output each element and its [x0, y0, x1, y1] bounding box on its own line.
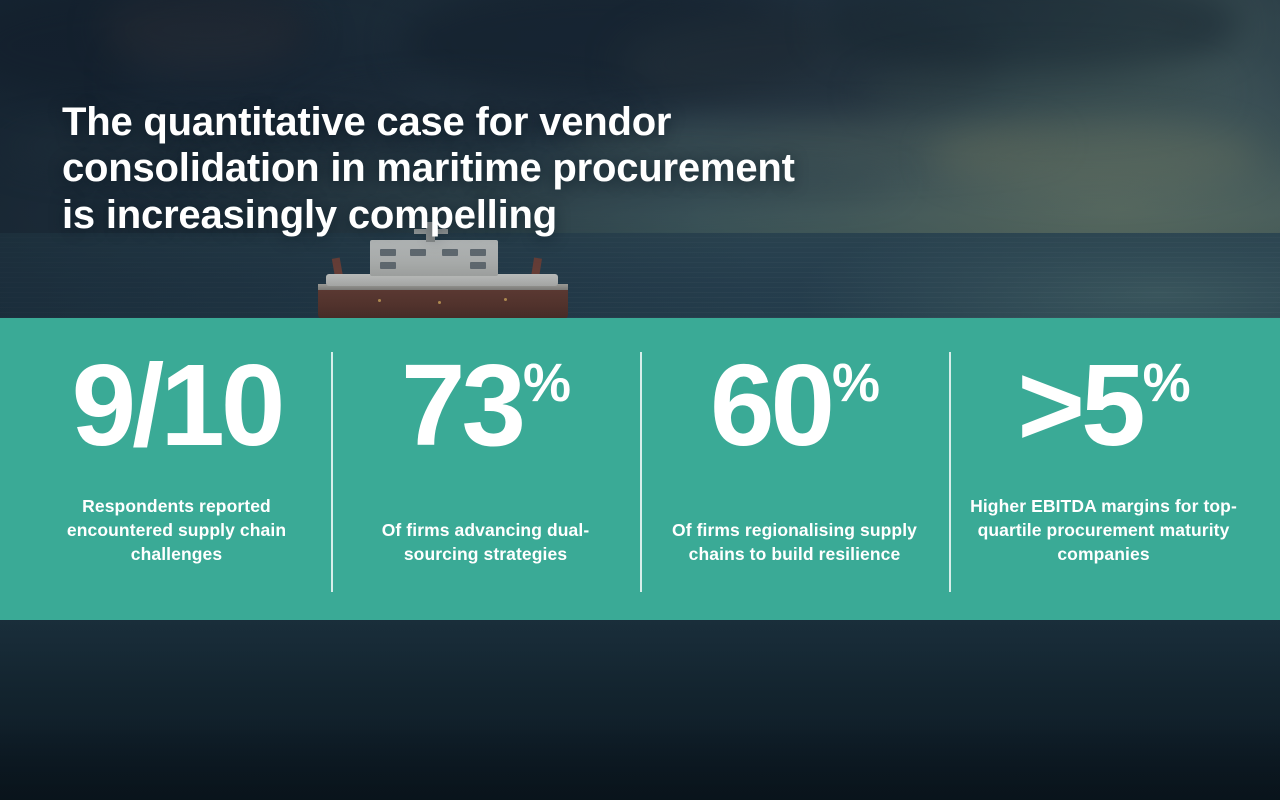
stat-suffix: % — [1143, 356, 1190, 410]
infographic-slide: The quantitative case for vendor consoli… — [0, 0, 1280, 800]
stat-figure: 73% — [401, 352, 570, 470]
stat-item: >5%Higher EBITDA margins for top-quartil… — [949, 352, 1258, 592]
stat-caption: Higher EBITDA margins for top-quartile p… — [964, 494, 1244, 566]
stat-item: 60%Of firms regionalising supply chains … — [640, 352, 949, 592]
stat-figure: 60% — [710, 352, 879, 470]
stat-caption: Of firms advancing dual-sourcing strateg… — [346, 518, 626, 566]
stat-value: 73 — [401, 352, 522, 460]
stat-suffix: % — [832, 356, 879, 410]
stat-value: 9/10 — [72, 352, 282, 460]
stat-suffix: % — [523, 356, 570, 410]
stat-value: >5 — [1017, 352, 1141, 460]
stat-value: 60 — [710, 352, 831, 460]
stat-figure: 9/10 — [72, 352, 282, 470]
stat-item: 73%Of firms advancing dual-sourcing stra… — [331, 352, 640, 592]
stat-caption: Of firms regionalising supply chains to … — [655, 518, 935, 566]
stat-figure: >5% — [1017, 352, 1189, 470]
statistics-band: 9/10Respondents reported encountered sup… — [0, 318, 1280, 620]
page-title: The quantitative case for vendor consoli… — [62, 99, 942, 238]
stat-caption: Respondents reported encountered supply … — [37, 494, 317, 566]
stat-item: 9/10Respondents reported encountered sup… — [22, 352, 331, 592]
